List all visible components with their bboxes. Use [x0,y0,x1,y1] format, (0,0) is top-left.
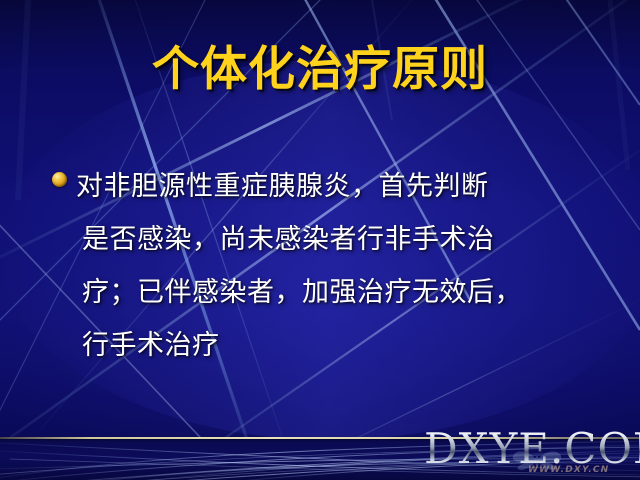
bullet-line-4: 行手术治疗 [76,319,612,372]
slide-body: 对非胆源性重症胰腺炎，首先判断 是否感染，尚未感染者行非手术治 疗；已伴感染者，… [52,160,612,372]
watermark: DXYE.COM WWW.DXY.CN [424,424,640,480]
bullet-line-2: 是否感染，尚未感染者行非手术治 [76,213,612,266]
slide-title: 个体化治疗原则 [0,44,640,96]
bullet-line-1: 对非胆源性重症胰腺炎，首先判断 [76,160,612,213]
bullet-line-3: 疗；已伴感染者，加强治疗无效后， [76,266,612,319]
watermark-subtext: WWW.DXY.CN [528,465,609,475]
bullet-item: 对非胆源性重症胰腺炎，首先判断 是否感染，尚未感染者行非手术治 疗；已伴感染者，… [52,160,612,372]
gold-sphere-bullet-icon [52,172,67,187]
presentation-slide: 个体化治疗原则 对非胆源性重症胰腺炎，首先判断 是否感染，尚未感染者行非手术治 … [0,0,640,480]
bullet-paragraph: 对非胆源性重症胰腺炎，首先判断 是否感染，尚未感染者行非手术治 疗；已伴感染者，… [76,160,612,372]
